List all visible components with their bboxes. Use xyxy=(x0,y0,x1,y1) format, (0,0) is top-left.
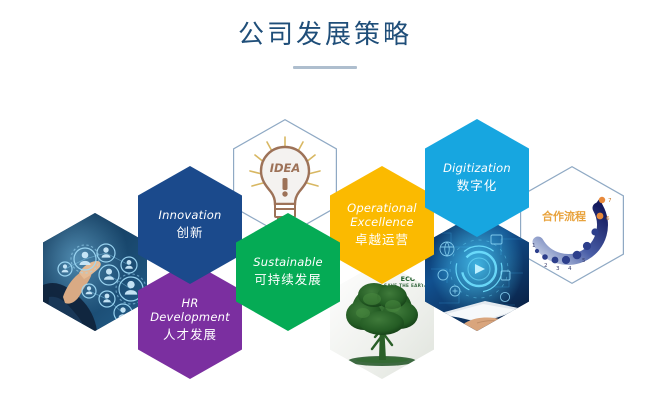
cooperation-process-label-zh: 合作流程 xyxy=(542,209,586,223)
operational-excellence-label-zh: 卓越运营 xyxy=(347,233,417,248)
honeycomb-diagram: Innovation 创新 HR Development 人才发展 xyxy=(0,0,650,414)
process-step-5: 5 xyxy=(582,258,586,264)
digitization-label: Digitization 数字化 xyxy=(437,162,517,194)
operational-excellence-label: Operational Excellence 卓越运营 xyxy=(341,202,423,248)
hex-cell-innovation[interactable]: Innovation 创新 xyxy=(138,166,242,284)
digitization-label-en: Digitization xyxy=(443,162,511,176)
hr-development-label: HR Development 人才发展 xyxy=(144,297,236,343)
idea-text: IDEA xyxy=(270,161,301,175)
sustainable-label-en: Sustainable xyxy=(253,256,322,270)
cooperation-process-chart: 1 2 3 4 5 6 7 合作流程 xyxy=(520,166,624,284)
process-step-6: 6 xyxy=(606,216,610,222)
hex-cell-operational-excellence[interactable]: Operational Excellence 卓越运营 xyxy=(330,166,434,284)
innovation-hexagon: Innovation 创新 xyxy=(138,166,242,284)
people-network-icon xyxy=(43,213,147,331)
digitization-label-zh: 数字化 xyxy=(443,179,511,194)
operational-excellence-hexagon: Operational Excellence 卓越运营 xyxy=(330,166,434,284)
hex-cell-sustainable[interactable]: Sustainable 可持续发展 xyxy=(236,213,340,331)
process-step-2: 2 xyxy=(544,263,548,269)
sustainable-hexagon: Sustainable 可持续发展 xyxy=(236,213,340,331)
innovation-label-en: Innovation xyxy=(159,209,222,223)
process-step-3: 3 xyxy=(556,266,560,272)
operational-excellence-label-en-line1: Operational xyxy=(347,202,417,216)
process-step-7: 7 xyxy=(608,198,612,204)
sustainable-label-zh: 可持续发展 xyxy=(253,273,322,288)
process-arc-icon: 1 2 3 4 5 6 7 合作流程 xyxy=(520,166,624,284)
hex-cell-cooperation-process[interactable]: 1 2 3 4 5 6 7 合作流程 xyxy=(520,166,624,284)
operational-excellence-label-en-line2: Excellence xyxy=(347,216,417,230)
digitization-hexagon: Digitization 数字化 xyxy=(425,119,529,237)
process-step-1: 1 xyxy=(532,243,536,249)
hr-development-label-en-line1: HR xyxy=(150,297,230,311)
people-network-image xyxy=(43,213,147,331)
process-step-4: 4 xyxy=(568,266,572,272)
hr-development-label-zh: 人才发展 xyxy=(150,328,230,343)
hr-development-label-en-line2: Development xyxy=(150,311,230,325)
innovation-label: Innovation 创新 xyxy=(153,209,228,241)
innovation-label-zh: 创新 xyxy=(159,226,222,241)
slide-canvas: 公司发展策略 xyxy=(0,0,650,414)
sustainable-label: Sustainable 可持续发展 xyxy=(247,256,328,288)
hex-cell-digitization[interactable]: Digitization 数字化 xyxy=(425,119,529,237)
hex-cell-people-network-photo[interactable] xyxy=(43,213,147,331)
